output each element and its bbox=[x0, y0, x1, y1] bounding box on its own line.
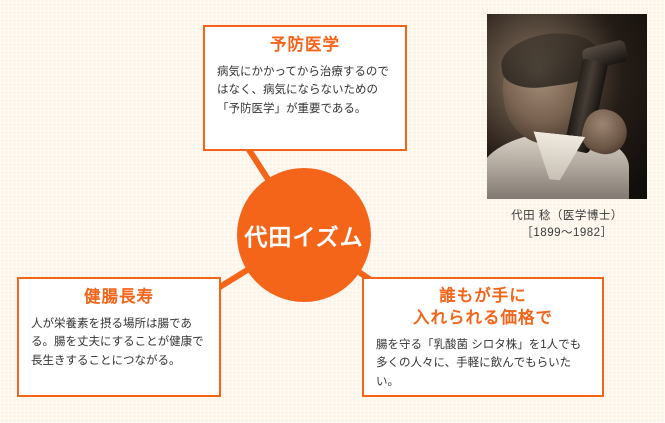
diagram-stage: 代田イズム 予防医学 病気にかかってから治療するのではなく、病気にならないための… bbox=[0, 0, 665, 423]
portrait-caption-line1: 代田 稔（医学博士） bbox=[487, 208, 647, 225]
center-node-label: 代田イズム bbox=[244, 218, 363, 252]
card-yobou-body: 病気にかかってから治療するのではなく、病気にならないための「予防医学」が重要であ… bbox=[205, 63, 405, 129]
card-kakaku-title-line2: 入れられる価格で bbox=[370, 308, 596, 330]
center-node: 代田イズム bbox=[237, 168, 371, 302]
portrait-block: 代田 稔（医学博士） ［1899〜1982］ bbox=[487, 14, 647, 199]
card-kencho-title: 健腸長寿 bbox=[19, 279, 219, 315]
card-kakaku-title-line1: 誰もが手に bbox=[370, 286, 596, 308]
card-kakaku-body: 腸を守る「乳酸菌 シロタ株」を1人でも多くの人々に、手軽に飲んでもらいたい。 bbox=[364, 336, 602, 402]
portrait-caption-line2: ［1899〜1982］ bbox=[487, 225, 647, 242]
card-kakaku-title: 誰もが手に 入れられる価格で bbox=[364, 279, 602, 336]
portrait-photo bbox=[487, 14, 647, 199]
card-yobou-title: 予防医学 bbox=[205, 27, 405, 63]
portrait-lighting bbox=[487, 14, 647, 199]
card-kencho-body: 人が栄養素を摂る場所は腸である。腸を丈夫にすることが健康で長生きすることにつなが… bbox=[19, 315, 219, 381]
portrait-caption: 代田 稔（医学博士） ［1899〜1982］ bbox=[487, 208, 647, 241]
card-yobou-igaku: 予防医学 病気にかかってから治療するのではなく、病気にならないための「予防医学」… bbox=[203, 25, 407, 151]
card-kencho-chouju: 健腸長寿 人が栄養素を摂る場所は腸である。腸を丈夫にすることが健康で長生きするこ… bbox=[17, 277, 221, 397]
card-kakaku: 誰もが手に 入れられる価格で 腸を守る「乳酸菌 シロタ株」を1人でも多くの人々に… bbox=[362, 277, 604, 397]
